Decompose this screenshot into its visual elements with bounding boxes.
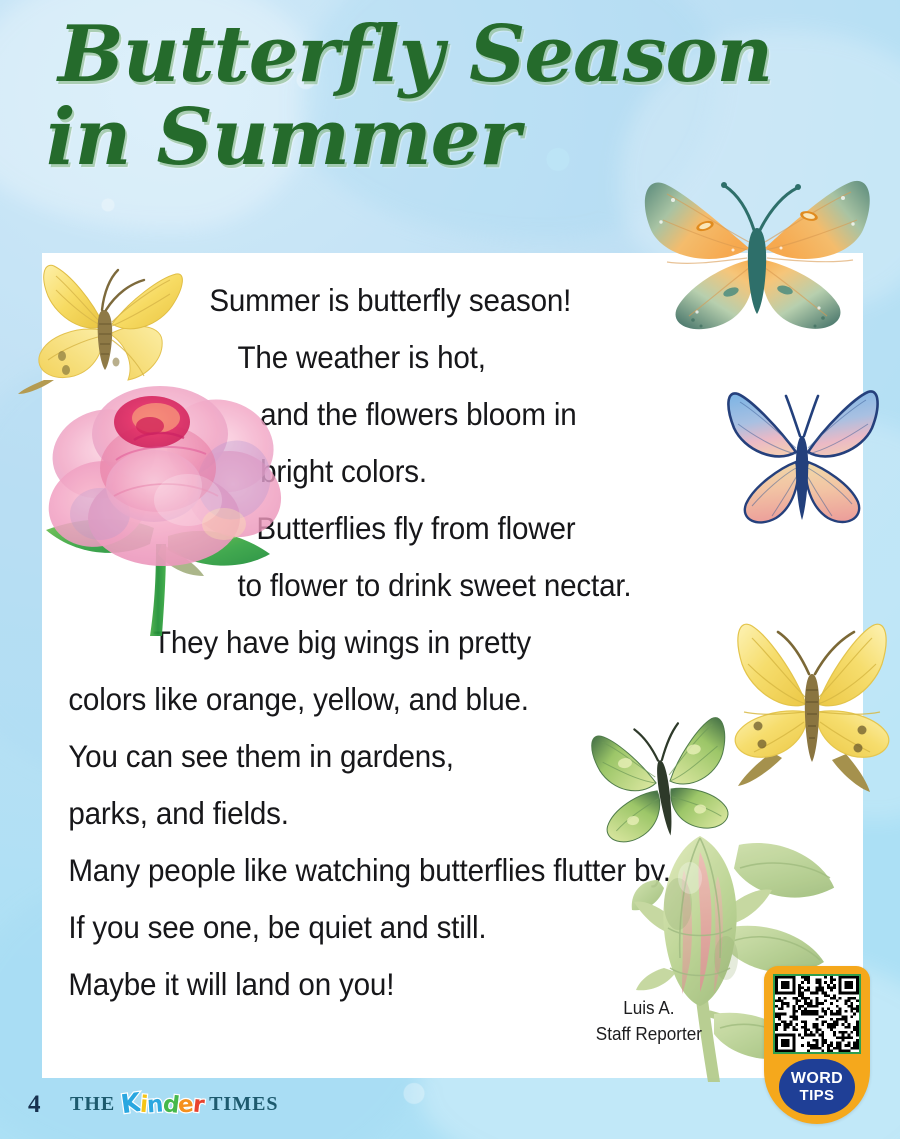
byline-author: Luis A. (596, 995, 702, 1021)
article-line: Many people like watching butterflies fl… (42, 842, 814, 899)
title-line-1: Butterfly Season (0, 18, 900, 93)
article-body: Summer is butterfly season! The weather … (42, 272, 814, 1013)
word-tips-badge[interactable]: WORD TIPS (764, 966, 870, 1124)
byline-role: Staff Reporter (596, 1021, 702, 1047)
article-line: and the flowers bloom in (42, 386, 814, 443)
article-line: to flower to drink sweet nectar. (42, 557, 814, 614)
word-tips-circle[interactable]: WORD TIPS (779, 1059, 855, 1115)
word-tips-line-1: WORD (791, 1071, 843, 1087)
article-title: Butterfly Season in Summer (0, 18, 900, 176)
page-number: 4 (28, 1091, 41, 1119)
article-line: You can see them in gardens, (42, 728, 814, 785)
title-line-2: in Summer (0, 101, 900, 176)
article-line: Summer is butterfly season! (42, 272, 814, 329)
masthead-kinder: Kinder (121, 1091, 203, 1117)
article-line: If you see one, be quiet and still. (42, 899, 814, 956)
byline: Luis A. Staff Reporter (596, 995, 702, 1047)
article-line: The weather is hot, (42, 329, 814, 386)
qr-code-canvas (775, 976, 859, 1052)
article-line: parks, and fields. (42, 785, 814, 842)
article-line: They have big wings in pretty (42, 614, 814, 671)
masthead-the: THE (70, 1093, 115, 1116)
word-tips-line-2: TIPS (800, 1088, 835, 1103)
article-line: Butterflies fly from flower (42, 500, 814, 557)
article-line: bright colors. (42, 443, 814, 500)
qr-code[interactable] (773, 974, 861, 1054)
masthead-times: TIMES (209, 1093, 278, 1116)
magazine-page: Butterfly Season in Summer Summer is but… (0, 0, 900, 1139)
masthead-logo: THE Kinder TIMES (70, 1091, 279, 1117)
kinder-letter-r: r (192, 1093, 206, 1117)
article-line: colors like orange, yellow, and blue. (42, 671, 814, 728)
page-footer: 4 THE Kinder TIMES (0, 1085, 900, 1131)
